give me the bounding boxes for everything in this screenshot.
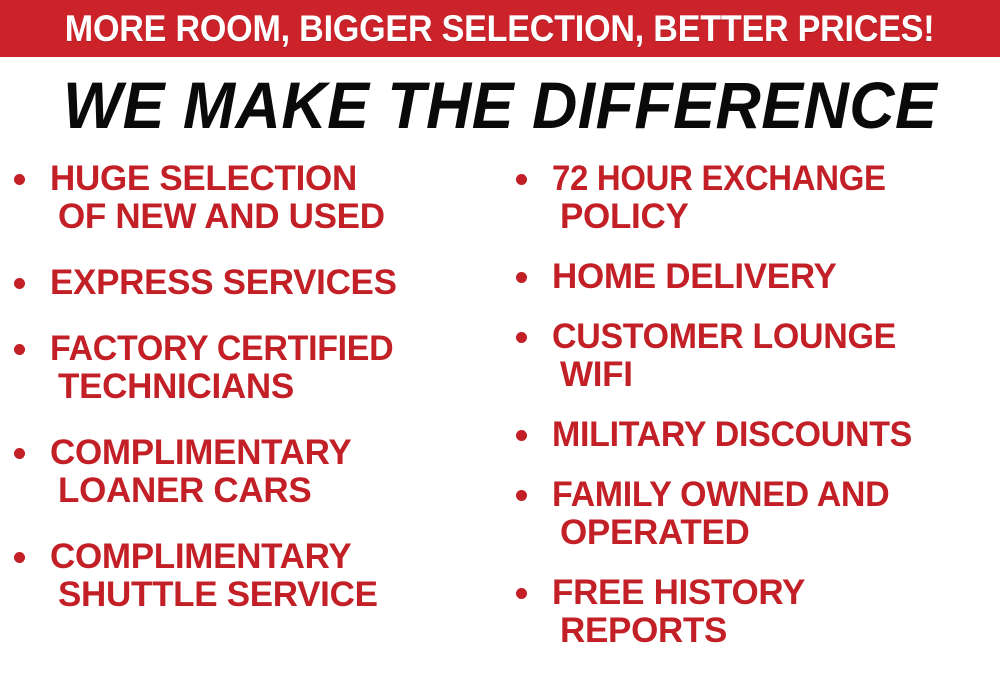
list-item-text: FACTORY CERTIFIED TECHNICIANS xyxy=(14,330,500,406)
list-item-line-1: MILITARY DISCOUNTS xyxy=(552,416,1000,454)
bullet-dot-icon xyxy=(516,490,527,501)
bullet-dot-icon xyxy=(516,332,527,343)
bullet-dot-icon xyxy=(516,430,527,441)
promotional-poster: MORE ROOM, BIGGER SELECTION, BETTER PRIC… xyxy=(0,0,1000,694)
banner-headline: MORE ROOM, BIGGER SELECTION, BETTER PRIC… xyxy=(65,10,935,47)
list-item-line-2: OF NEW AND USED xyxy=(50,198,500,236)
list-item-text: COMPLIMENTARY LOANER CARS xyxy=(14,434,500,510)
list-item-line-1: 72 HOUR EXCHANGE xyxy=(552,160,988,198)
benefits-column-right: 72 HOUR EXCHANGE POLICY HOME DELIVERY CU… xyxy=(516,160,1000,650)
bullet-dot-icon xyxy=(14,278,25,289)
list-item-line-2: TECHNICIANS xyxy=(50,368,500,406)
list-item-line-1: CUSTOMER LOUNGE xyxy=(552,318,1000,356)
list-item: COMPLIMENTARY LOANER CARS xyxy=(14,434,500,510)
list-item-line-1: COMPLIMENTARY xyxy=(50,538,500,576)
list-item: EXPRESS SERVICES xyxy=(14,264,500,302)
list-item-line-2: REPORTS xyxy=(552,612,1000,650)
list-item-line-1: HUGE SELECTION xyxy=(50,160,500,198)
list-item-text: EXPRESS SERVICES xyxy=(14,264,500,302)
bullet-dot-icon xyxy=(14,552,25,563)
list-item-text: HOME DELIVERY xyxy=(516,258,1000,296)
list-item: CUSTOMER LOUNGE WIFI xyxy=(516,318,1000,394)
list-item-line-1: FREE HISTORY xyxy=(552,574,1000,612)
list-item-line-2: SHUTTLE SERVICE xyxy=(50,576,500,614)
list-item: FACTORY CERTIFIED TECHNICIANS xyxy=(14,330,500,406)
list-item-line-1: COMPLIMENTARY xyxy=(50,434,500,472)
list-item-text: CUSTOMER LOUNGE WIFI xyxy=(516,318,1000,394)
list-item: 72 HOUR EXCHANGE POLICY xyxy=(516,160,1000,236)
list-item: HUGE SELECTION OF NEW AND USED xyxy=(14,160,500,236)
list-item: FREE HISTORY REPORTS xyxy=(516,574,1000,650)
list-item-line-1: FACTORY CERTIFIED xyxy=(50,330,487,368)
list-item: HOME DELIVERY xyxy=(516,258,1000,296)
list-item-text: 72 HOUR EXCHANGE POLICY xyxy=(516,160,1000,236)
list-item-text: MILITARY DISCOUNTS xyxy=(516,416,1000,454)
main-headline-text: WE MAKE THE DIFFERENCE xyxy=(63,72,937,138)
main-headline: WE MAKE THE DIFFERENCE xyxy=(0,72,1000,138)
list-item: MILITARY DISCOUNTS xyxy=(516,416,1000,454)
list-item: FAMILY OWNED AND OPERATED xyxy=(516,476,1000,552)
list-item-text: COMPLIMENTARY SHUTTLE SERVICE xyxy=(14,538,500,614)
list-item-line-1: EXPRESS SERVICES xyxy=(50,264,500,302)
benefits-column-left: HUGE SELECTION OF NEW AND USED EXPRESS S… xyxy=(14,160,500,614)
list-item-line-1: HOME DELIVERY xyxy=(552,258,1000,296)
list-item-line-2: WIFI xyxy=(552,356,1000,394)
list-item-line-2: POLICY xyxy=(552,198,1000,236)
top-banner: MORE ROOM, BIGGER SELECTION, BETTER PRIC… xyxy=(0,0,1000,57)
bullet-dot-icon xyxy=(516,272,527,283)
list-item: COMPLIMENTARY SHUTTLE SERVICE xyxy=(14,538,500,614)
list-item-line-2: OPERATED xyxy=(552,514,1000,552)
list-item-line-2: LOANER CARS xyxy=(50,472,500,510)
bullet-dot-icon xyxy=(516,588,527,599)
bullet-dot-icon xyxy=(14,174,25,185)
bullet-dot-icon xyxy=(516,174,527,185)
list-item-text: FAMILY OWNED AND OPERATED xyxy=(516,476,1000,552)
list-item-text: FREE HISTORY REPORTS xyxy=(516,574,1000,650)
bullet-dot-icon xyxy=(14,448,25,459)
list-item-text: HUGE SELECTION OF NEW AND USED xyxy=(14,160,500,236)
bullet-dot-icon xyxy=(14,344,25,355)
list-item-line-1: FAMILY OWNED AND xyxy=(552,476,1000,514)
